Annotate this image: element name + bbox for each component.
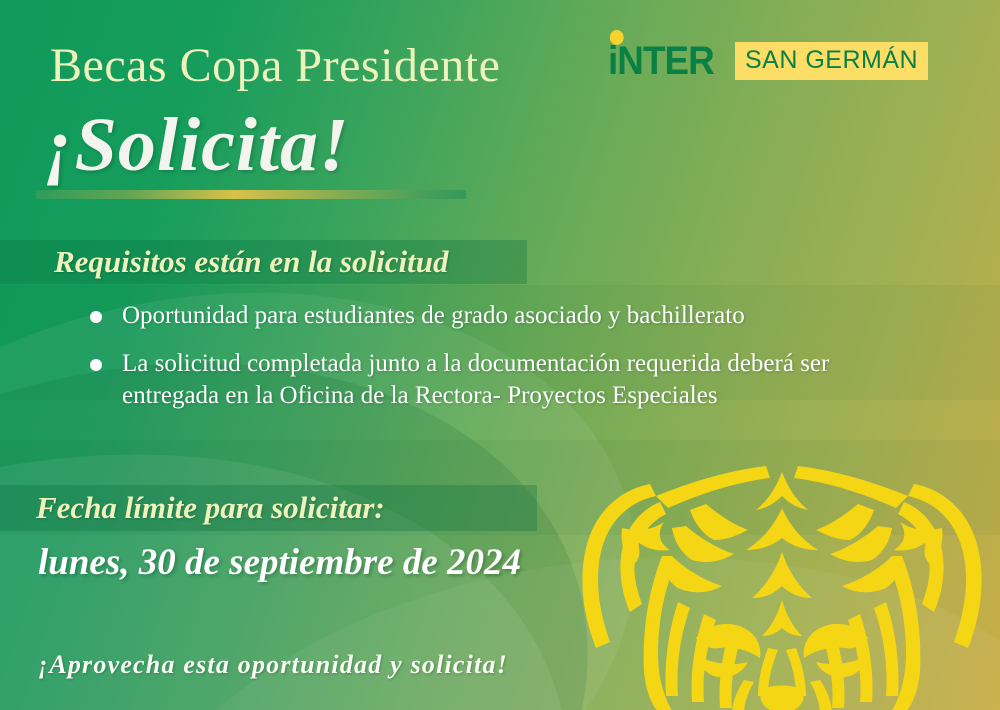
bullet-dot-icon — [90, 359, 102, 371]
poster-title: Becas Copa Presidente — [50, 38, 500, 94]
logo-brand-label: iNTER — [608, 39, 714, 83]
logo-campus-label: SAN GERMÁN — [735, 42, 928, 80]
poster-title-script: ¡Solicita! — [44, 100, 350, 190]
deadline-date: lunes, 30 de septiembre de 2024 — [38, 540, 521, 586]
inter-logo: iNTER SAN GERMÁN — [608, 38, 928, 84]
list-item-label: La solicitud completada junto a la docum… — [122, 350, 829, 409]
list-item: Oportunidad para estudiantes de grado as… — [88, 300, 878, 332]
logo-brand-text: iNTER — [608, 41, 721, 81]
deadline-heading-label: Fecha límite para solicitar: — [36, 491, 385, 525]
title-underline-rule — [36, 190, 466, 199]
background-swoosh-1 — [0, 213, 695, 710]
requirements-heading-band: Requisitos están en la solicitud — [0, 240, 527, 284]
poster-tagline: ¡Aprovecha esta oportunidad y solicita! — [38, 648, 508, 682]
poster-canvas: iNTER SAN GERMÁN Becas Copa Presidente ¡… — [0, 0, 1000, 710]
bullet-dot-icon — [90, 311, 102, 323]
list-item-label: Oportunidad para estudiantes de grado as… — [122, 302, 745, 329]
requirements-heading-label: Requisitos están en la solicitud — [54, 245, 448, 279]
logo-dot-icon — [610, 30, 624, 45]
deadline-heading-band: Fecha límite para solicitar: — [0, 485, 537, 531]
requirements-list: Oportunidad para estudiantes de grado as… — [88, 300, 878, 428]
list-item: La solicitud completada junto a la docum… — [88, 348, 878, 412]
tiger-head-icon — [556, 452, 1000, 710]
